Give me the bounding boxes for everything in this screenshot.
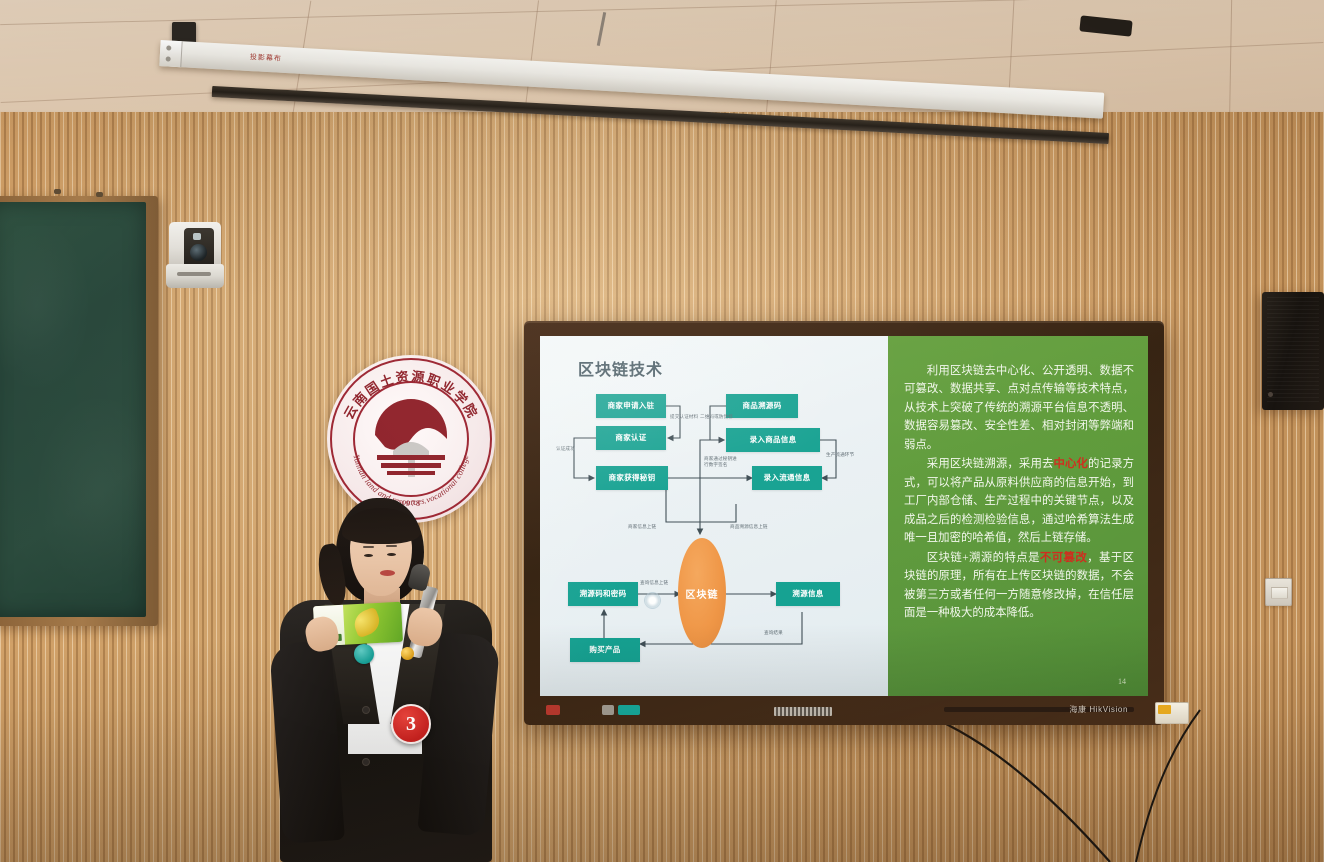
- display-screen[interactable]: 区块链技术: [540, 336, 1148, 696]
- slide-page-number: 14: [1118, 677, 1126, 686]
- panel-paragraphs: 利用区块链去中心化、公开透明、数据不可篡改、数据共享、点对点传输等技术特点，从技…: [904, 362, 1134, 624]
- jacket-button: [362, 706, 370, 714]
- panel-paragraph: 采用区块链溯源，采用去中心化的记录方式，可以将产品从原料供应商的信息开始，到工厂…: [904, 455, 1134, 547]
- bezel-button[interactable]: [602, 705, 614, 715]
- interactive-smart-display[interactable]: 区块链技术: [524, 321, 1164, 725]
- diagram-node: 购买产品: [570, 638, 640, 662]
- jacket-button: [362, 758, 370, 766]
- chalkboard-clip: [96, 192, 103, 197]
- diagram-node: 录入商品信息: [726, 428, 820, 452]
- display-bottom-bezel: 海康 HikVision: [524, 696, 1164, 725]
- diagram-node: 商家申请入驻: [596, 394, 666, 418]
- classroom-scene: 投影幕布 云南国: [0, 0, 1324, 862]
- power-button[interactable]: [546, 705, 560, 715]
- panel-text-run: 的记录方式，可以将产品从原料供应商的信息开始，到工厂内部仓储、生产过程中的关键节…: [904, 458, 1134, 544]
- edge-label: 提交认证材料: [670, 414, 698, 420]
- slide-title: 区块链技术: [578, 356, 663, 380]
- diagram-node: 录入流通信息: [752, 466, 822, 490]
- diagram-node: 商家认证: [596, 426, 666, 450]
- ptz-dome-camera: [166, 214, 224, 290]
- diagram-node: 溯源信息: [776, 582, 840, 606]
- panel-paragraph: 利用区块链去中心化、公开透明、数据不可篡改、数据共享、点对点传输等技术特点，从技…: [904, 362, 1134, 454]
- edge-label: 商品溯源信息上链: [730, 524, 768, 530]
- slide-diagram-panel: 区块链技术: [540, 336, 888, 696]
- contestant-number-badge: 3: [391, 704, 431, 744]
- panel-text-run: 采用区块链溯源，采用去: [927, 458, 1054, 470]
- edge-label: 查询结果: [764, 630, 783, 636]
- edge-label: 查询信息上链: [640, 580, 668, 586]
- camera-ir-led: [193, 233, 201, 240]
- student-presenter: 3: [258, 492, 518, 862]
- panel-highlight-text: 中心化: [1053, 458, 1088, 470]
- bezel-port-strip: [774, 707, 832, 716]
- panel-paragraph: 区块链+溯源的特点是不可篡改，基于区块链的原理，所有在上传区块链的数据，不会被第…: [904, 549, 1134, 623]
- lapel-badge-green: [354, 644, 374, 664]
- presentation-slide: 区块链技术: [540, 336, 1148, 696]
- panel-highlight-text: 不可篡改: [1040, 552, 1087, 564]
- panel-text-run: 利用区块链去中心化、公开透明、数据不可篡改、数据共享、点对点传输等技术特点，从技…: [904, 365, 1134, 451]
- diagram-center-node: 区块链: [678, 538, 726, 648]
- edge-label: 商家通过秘钥进行数字签名: [704, 456, 738, 467]
- emblem-mountain-mark: [363, 389, 459, 485]
- camera-lens: [190, 244, 207, 261]
- edge-label: 生产流通环节: [826, 452, 854, 458]
- chalkboard-clip: [54, 189, 61, 194]
- display-brand-logo: 海康 HikVision: [1069, 704, 1128, 715]
- diagram-node: 商品溯源码: [726, 394, 798, 418]
- wall-speaker: [1262, 292, 1324, 410]
- green-chalkboard: [0, 196, 158, 626]
- panel-text-run: 区块链+溯源的特点是: [927, 552, 1040, 564]
- diagram-node: 溯源码和密码: [568, 582, 638, 606]
- wall-info-plate: [1155, 702, 1189, 724]
- lapel-badge-gold: [401, 647, 414, 660]
- diagram-ghost-dot: [644, 592, 661, 609]
- slide-text-panel: 利用区块链去中心化、公开透明、数据不可篡改、数据共享、点对点传输等技术特点，从技…: [888, 336, 1148, 696]
- bezel-button-teal[interactable]: [618, 705, 640, 715]
- edge-label: 二维码或防伪标: [700, 414, 733, 420]
- light-switch[interactable]: [1265, 578, 1292, 606]
- presenter-lips: [380, 570, 395, 576]
- diagram-node: 商家获得秘钥: [596, 466, 668, 490]
- edge-label: 认证成功: [556, 446, 575, 452]
- edge-label: 商家信息上链: [628, 524, 656, 530]
- flow-diagram: 商家申请入驻 商家认证 商家获得秘钥 商品溯源码 录入商品信息 录入流通信息 溯…: [540, 382, 888, 692]
- screen-housing-logo: 投影幕布: [250, 52, 283, 64]
